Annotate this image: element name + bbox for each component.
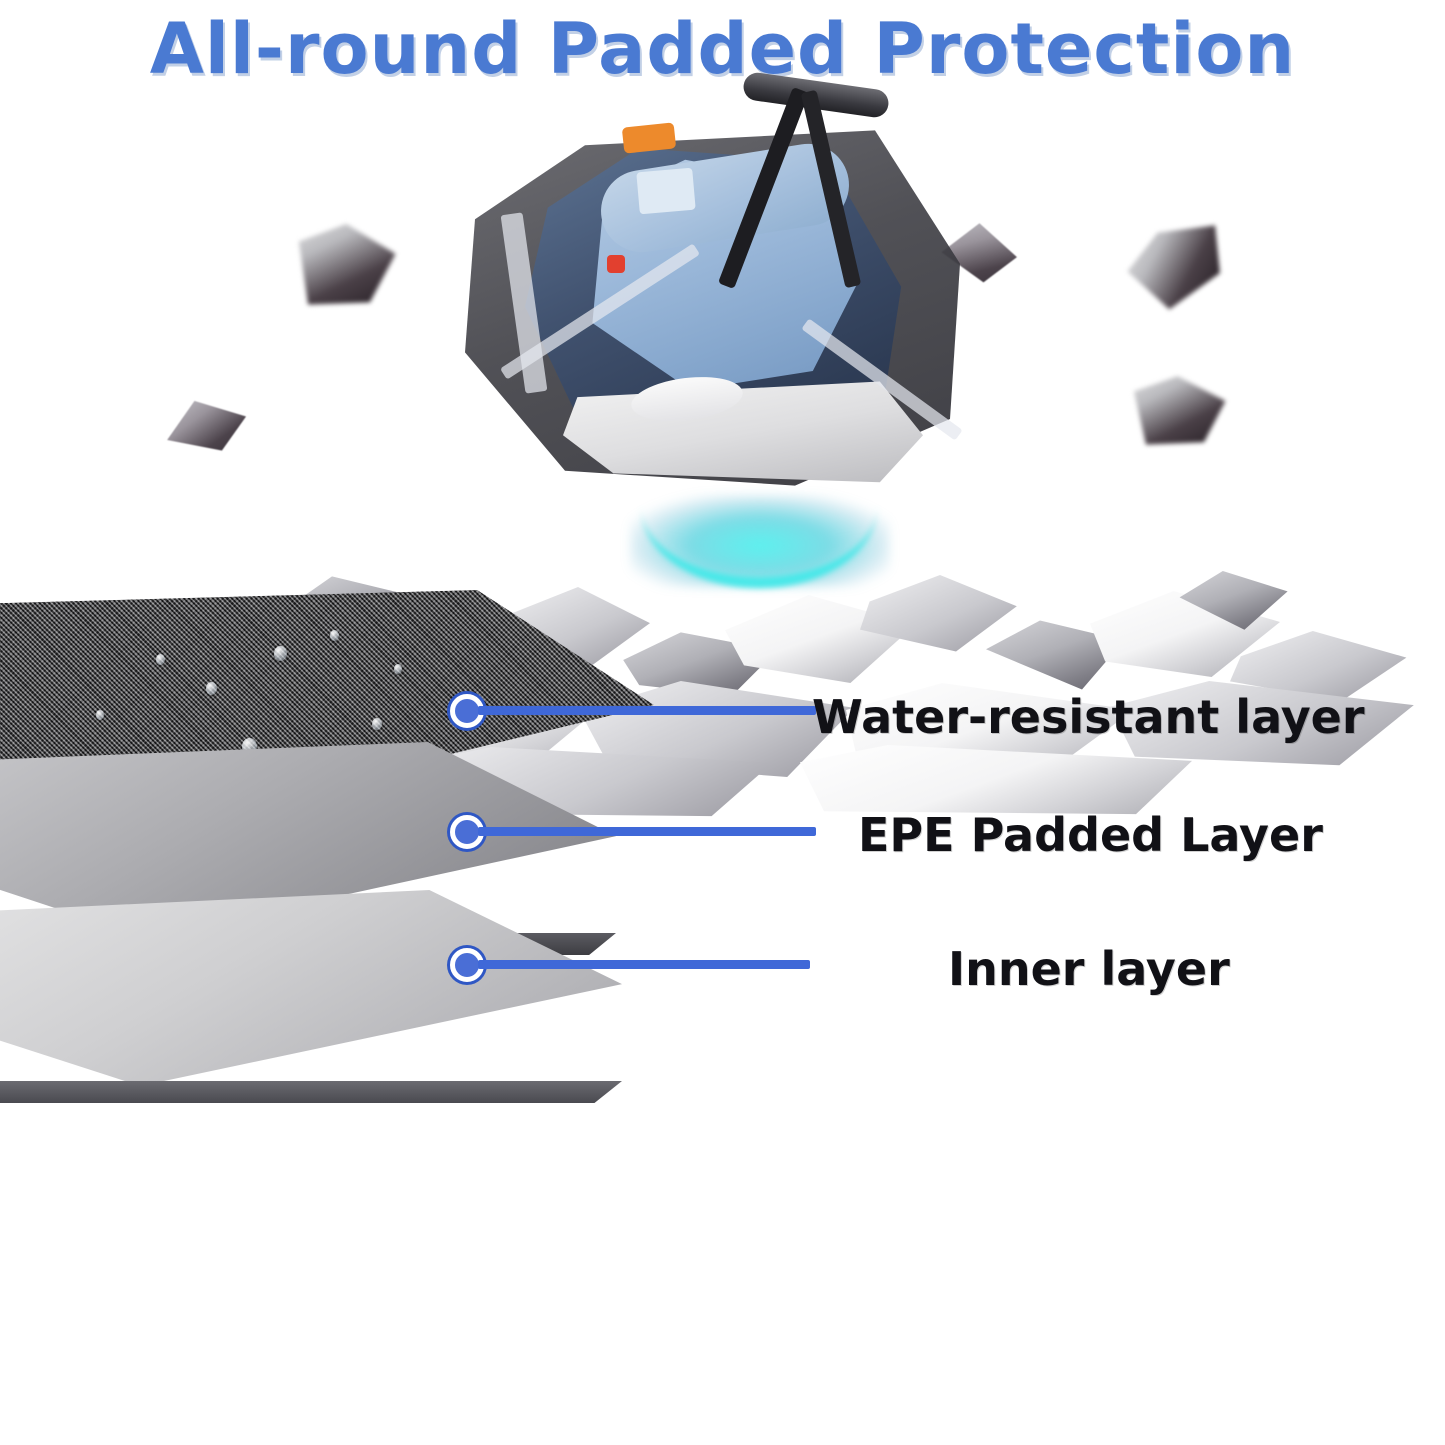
debris-chunk-icon	[1109, 207, 1244, 325]
car-seat-product	[455, 95, 975, 565]
white-label-tag	[636, 168, 695, 215]
callout-label-epe-padded: EPE Padded Layer	[858, 808, 1323, 862]
callout-leader-line	[478, 827, 816, 836]
callout-label-inner-layer: Inner layer	[948, 942, 1230, 996]
infographic-canvas: All-round Padded Protection	[0, 0, 1445, 1445]
debris-chunk-icon	[159, 390, 257, 457]
page-title: All-round Padded Protection	[0, 8, 1445, 90]
debris-chunk-icon	[275, 208, 405, 327]
details-section: Heavy Duty 600D Oxford Cloth Water-resis…	[0, 1062, 1445, 1445]
debris-chunk-icon	[1115, 363, 1233, 463]
callout-leader-line	[478, 706, 816, 715]
material-layer-stack	[0, 590, 714, 1060]
orange-tag	[622, 122, 676, 153]
red-buckle	[607, 255, 625, 273]
inner-layer-sheet	[0, 890, 622, 1086]
callout-label-water-resistant: Water-resistant layer	[812, 690, 1365, 744]
callout-leader-line	[478, 960, 810, 969]
